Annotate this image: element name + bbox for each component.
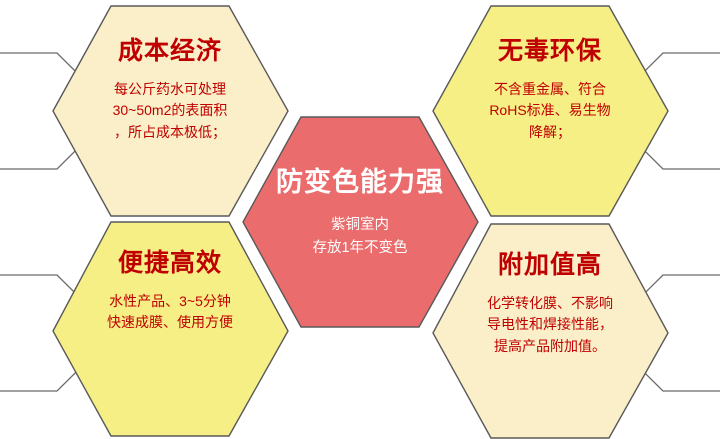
honeycomb-svg — [0, 0, 720, 439]
hexagon-anti-discoloration[interactable] — [243, 117, 478, 327]
hexagon-convenient-efficient[interactable] — [53, 222, 288, 436]
hexagon-cost-economy[interactable] — [53, 6, 288, 216]
hexagon-infographic: 成本经济 每公斤药水可处理 30~50m2的表面积 ，所占成本极低； 无毒环保 … — [0, 0, 720, 439]
hexagon-high-added-value[interactable] — [433, 224, 668, 438]
hexagon-non-toxic[interactable] — [433, 6, 668, 216]
